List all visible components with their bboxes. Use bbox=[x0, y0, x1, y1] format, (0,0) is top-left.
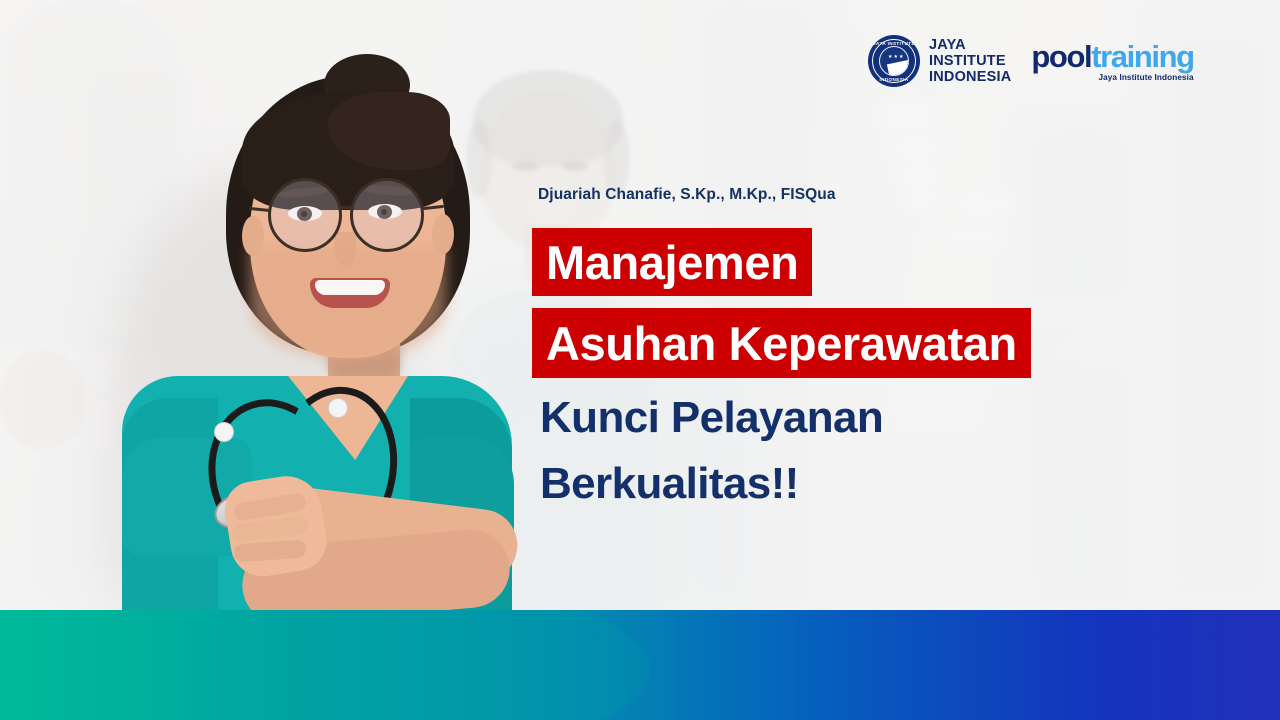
eyeglasses-bridge bbox=[341, 206, 353, 209]
pooltraining-word-dark: pool bbox=[1031, 39, 1091, 74]
jaya-seal-arc-bottom: INDONESIA bbox=[868, 77, 920, 82]
jaya-institute-logo[interactable]: JAYA INSTITUTE ★★★ INDONESIA JAYA INSTIT… bbox=[868, 35, 1011, 87]
jaya-wordmark-line-3: INDONESIA bbox=[929, 69, 1011, 85]
nurse-ear bbox=[242, 216, 264, 256]
nurse-portrait bbox=[92, 46, 512, 616]
subtitle-line-1: Kunci Pelayanan bbox=[540, 396, 883, 440]
pooltraining-word-light: training bbox=[1091, 39, 1193, 74]
jaya-wordmark-line-1: JAYA bbox=[929, 37, 1011, 53]
stethoscope-earpiece bbox=[328, 398, 348, 418]
nurse-chin bbox=[308, 318, 392, 358]
stethoscope-earpiece bbox=[214, 422, 234, 442]
logo-bar: JAYA INSTITUTE ★★★ INDONESIA JAYA INSTIT… bbox=[868, 26, 1220, 96]
nurse-nose bbox=[334, 232, 356, 266]
eyeglasses-icon bbox=[350, 178, 424, 252]
bottom-bar-arc-overlay bbox=[0, 610, 650, 720]
jaya-wordmark-line-2: INSTITUTE bbox=[929, 53, 1011, 69]
speaker-name: Djuariah Chanafie, S.Kp., M.Kp., FISQua bbox=[538, 186, 836, 204]
pooltraining-wordmark: pooltraining bbox=[1031, 41, 1193, 72]
nurse-ear bbox=[432, 214, 454, 254]
title-highlight-line-1: Manajemen bbox=[532, 228, 812, 296]
jaya-wordmark: JAYA INSTITUTE INDONESIA bbox=[929, 37, 1011, 86]
nurse-mouth bbox=[310, 278, 390, 308]
title-highlight-line-2: Asuhan Keperawatan bbox=[532, 308, 1031, 378]
jaya-seal-icon: JAYA INSTITUTE ★★★ INDONESIA bbox=[868, 35, 920, 87]
bottom-gradient-bar bbox=[0, 610, 1280, 720]
eyeglasses-icon bbox=[268, 178, 342, 252]
pooltraining-tagline: Jaya Institute Indonesia bbox=[1031, 73, 1193, 82]
pooltraining-logo[interactable]: pooltraining Jaya Institute Indonesia bbox=[1031, 38, 1193, 84]
subtitle-line-2: Berkualitas!! bbox=[540, 462, 799, 506]
presentation-slide: JAYA INSTITUTE ★★★ INDONESIA JAYA INSTIT… bbox=[0, 0, 1280, 720]
